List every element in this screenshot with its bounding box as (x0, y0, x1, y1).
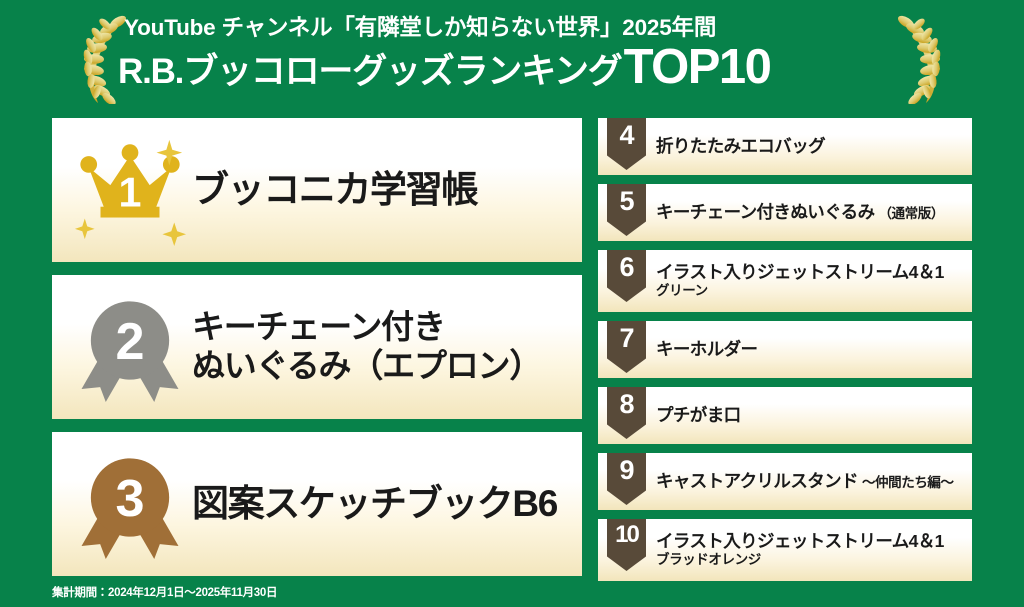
rank-badge-5-number: 5 (619, 188, 633, 215)
aggregation-period-note: 集計期間：2024年12月1日〜2025年11月30日 (52, 584, 277, 600)
rank-row-6[interactable]: 6 イラスト入りジェットストリーム4＆1 グリーン (598, 250, 972, 312)
rank-badge-7-number: 7 (619, 325, 633, 352)
rank-badge-4: 4 (607, 118, 646, 170)
rank-row-10[interactable]: 10 イラスト入りジェットストリーム4＆1 ブラッドオレンジ (598, 519, 972, 581)
rank-row-9-title: キャストアクリルスタンド (656, 471, 858, 491)
ranking-columns: 1 ブッコニカ学習帳 (0, 112, 1024, 578)
bronze-medal-icon: 3 (68, 449, 192, 559)
rank-card-1[interactable]: 1 ブッコニカ学習帳 (52, 118, 582, 262)
ranking-poster: YouTube チャンネル「有隣堂しか知らない世界」2025年間 R.B.ブッコ… (0, 0, 1024, 607)
rank-card-2-title: キーチェーン付き ぬいぐるみ（エプロン） (192, 308, 541, 386)
rank-row-8[interactable]: 8 プチがま口 (598, 387, 972, 444)
rank-row-8-text: プチがま口 (656, 405, 741, 425)
rank-row-5-suffix: （通常版） (878, 202, 944, 222)
rank-badge-7: 7 (607, 321, 646, 373)
top-three-column: 1 ブッコニカ学習帳 (52, 118, 582, 576)
rank-badge-5: 5 (607, 184, 646, 236)
rank-row-4[interactable]: 4 折りたたみエコバッグ (598, 118, 972, 175)
rank-row-9[interactable]: 9 キャストアクリルスタンド ～仲間たち編～ (598, 453, 972, 510)
header-text-block: YouTube チャンネル「有隣堂しか知らない世界」2025年間 R.B.ブッコ… (118, 16, 898, 102)
rank-card-1-title: ブッコニカ学習帳 (192, 168, 477, 212)
rank-list-column: 4 折りたたみエコバッグ 5 キーチェーン付きぬいぐるみ （通常版） (598, 118, 972, 581)
rank-row-5[interactable]: 5 キーチェーン付きぬいぐるみ （通常版） (598, 184, 972, 241)
rank-row-9-suffix: ～仲間たち編～ (862, 471, 954, 491)
rank-row-4-text: 折りたたみエコバッグ (656, 136, 825, 156)
rank-row-9-text: キャストアクリルスタンド ～仲間たち編～ (656, 471, 954, 491)
rank-row-7-title: キーホルダー (656, 339, 757, 359)
rank-row-10-subtitle: ブラッドオレンジ (656, 552, 944, 568)
rank-row-10-title: イラスト入りジェットストリーム4＆1 (656, 531, 944, 551)
header-title-row: R.B.ブッコローグッズランキング TOP10 (118, 43, 770, 92)
rank-row-4-title: 折りたたみエコバッグ (656, 136, 825, 156)
header-title-jp: R.B.ブッコローグッズランキング (118, 54, 622, 89)
rank-badge-8-number: 8 (619, 391, 633, 418)
rank-badge-8: 8 (607, 387, 646, 439)
rank-badge-9-number: 9 (619, 457, 633, 484)
svg-text:1: 1 (119, 170, 142, 216)
laurel-branch-right-icon (888, 12, 950, 104)
rank-card-2[interactable]: 2 キーチェーン付き ぬいぐるみ（エプロン） (52, 275, 582, 419)
svg-text:2: 2 (115, 313, 144, 371)
rank-row-10-text: イラスト入りジェットストリーム4＆1 ブラッドオレンジ (656, 531, 944, 568)
rank-badge-10: 10 (607, 519, 646, 571)
header-kicker: YouTube チャンネル「有隣堂しか知らない世界」2025年間 (124, 16, 716, 40)
rank-row-6-title: イラスト入りジェットストリーム4＆1 (656, 262, 944, 282)
svg-text:3: 3 (115, 470, 144, 528)
rank-row-5-text: キーチェーン付きぬいぐるみ （通常版） (656, 202, 944, 222)
silver-medal-icon: 2 (68, 292, 192, 402)
rank-row-7[interactable]: 7 キーホルダー (598, 321, 972, 378)
poster-header: YouTube チャンネル「有隣堂しか知らない世界」2025年間 R.B.ブッコ… (0, 0, 1024, 112)
rank-row-5-title: キーチェーン付きぬいぐるみ (656, 202, 874, 222)
rank-badge-6-number: 6 (619, 254, 633, 281)
rank-row-6-subtitle: グリーン (656, 283, 944, 299)
rank-badge-6: 6 (607, 250, 646, 302)
rank-badge-9: 9 (607, 453, 646, 505)
gold-crown-icon: 1 (68, 132, 192, 248)
rank-row-8-title: プチがま口 (656, 405, 741, 425)
header-title-top10: TOP10 (624, 43, 771, 92)
rank-badge-4-number: 4 (619, 122, 633, 149)
rank-card-3-title: 図案スケッチブックB6 (192, 482, 557, 526)
rank-card-3[interactable]: 3 図案スケッチブックB6 (52, 432, 582, 576)
rank-row-6-text: イラスト入りジェットストリーム4＆1 グリーン (656, 262, 944, 299)
rank-badge-10-number: 10 (615, 523, 638, 547)
rank-row-7-text: キーホルダー (656, 339, 757, 359)
